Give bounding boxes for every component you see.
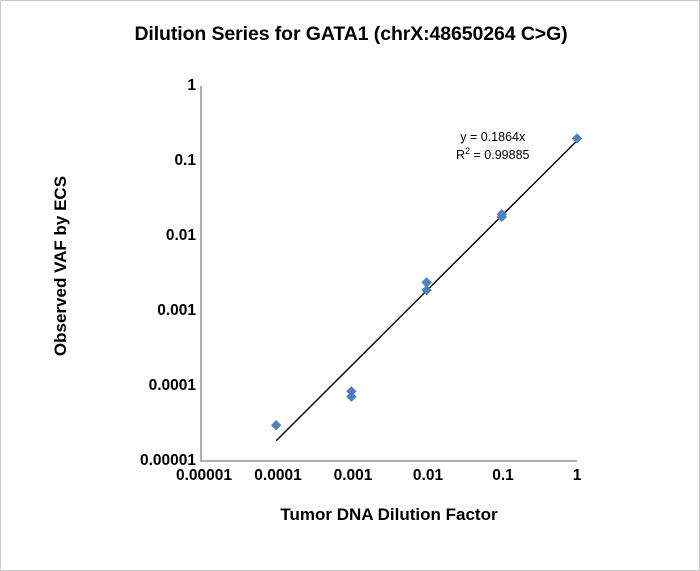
data-point-markers (271, 133, 582, 430)
y-axis-title: Observed VAF by ECS (51, 166, 71, 366)
trendline-equation-text: y = 0.1864x (456, 129, 529, 146)
x-tick-label: 0.01 (413, 467, 443, 485)
chart-title: Dilution Series for GATA1 (chrX:48650264… (1, 23, 700, 46)
y-tick-label: 1 (187, 77, 196, 95)
chart-figure: Dilution Series for GATA1 (chrX:48650264… (0, 0, 700, 571)
y-axis-line (200, 86, 202, 462)
y-axis-tick-labels: 1 0.1 0.01 0.001 0.0001 0.00001 (111, 1, 196, 571)
data-point-marker (497, 209, 507, 219)
x-tick-label: 0.001 (334, 467, 373, 485)
y-tick-label: 0.1 (174, 152, 196, 170)
data-point-marker (346, 392, 356, 402)
x-tick-label: 1 (573, 467, 582, 485)
data-point-marker (421, 285, 431, 295)
plot-canvas (1, 1, 700, 571)
y-tick-label: 0.0001 (149, 377, 196, 395)
x-axis-line (200, 460, 577, 462)
x-tick-label: 0.00001 (176, 467, 232, 485)
x-tick-label: 0.0001 (254, 467, 301, 485)
data-point-marker (346, 386, 356, 396)
y-tick-label: 0.001 (157, 302, 196, 320)
x-axis-title: Tumor DNA Dilution Factor (201, 505, 577, 525)
trendline-path (276, 141, 577, 441)
x-tick-label: 0.1 (492, 467, 514, 485)
data-point-marker (497, 212, 507, 222)
data-point-marker (271, 420, 281, 430)
data-point-marker (421, 277, 431, 287)
r-squared-value: 0.99885 (484, 148, 529, 162)
data-point-marker (572, 133, 582, 143)
y-tick-label: 0.01 (166, 227, 196, 245)
trendline-equation-annotation: y = 0.1864x R2 = 0.99885 (456, 129, 529, 163)
trendline-r-squared-text: R2 = 0.99885 (456, 146, 529, 164)
trendline (276, 141, 577, 441)
